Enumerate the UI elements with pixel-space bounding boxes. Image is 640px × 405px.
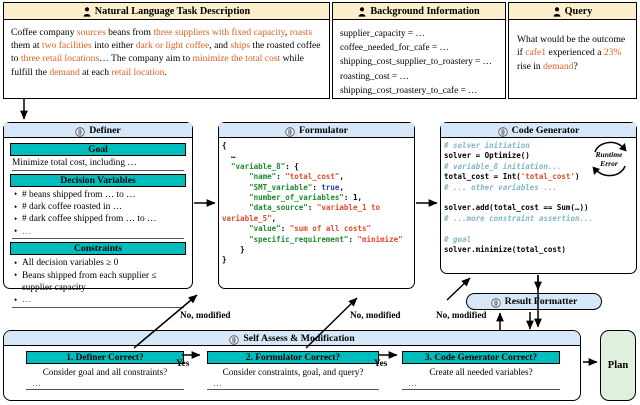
list-item: … [14,226,188,238]
list-item: supplier_capacity = … [340,27,505,41]
code-token: : 1, [344,193,362,202]
query-header: Query [509,3,636,20]
code-token: : [308,203,317,212]
self-assess-step-3-dots: … [402,378,560,388]
definer-decision-variables-list: # beans shipped from … to …# dark coffee… [4,188,192,239]
self-assess-step-2-question: Consider constraints, goal, and query? [207,364,379,378]
code-generator-header: Code Generator [441,123,636,138]
definer-goal-text: Minimize total cost, including … [4,157,192,170]
code-token: "SMT_variable" [249,183,312,192]
definer-constraints-list: All decision variables ≥ 0Beans shipped … [4,256,192,307]
code-token: … [231,151,236,160]
edge-label-yes-2: Yes [374,358,387,368]
list-item: shipping_cost_supplier_to_roastery = … [340,55,505,69]
code-token: : [312,183,321,192]
background-information-header: Background Information [333,3,505,20]
code-token: { [222,141,227,150]
code-token: "value" [249,224,281,233]
natural-language-task-panel: Natural Language Task Description Coffee… [3,2,330,99]
code-token: total_cost = Int( [444,172,521,181]
edge-label-no-modified-2: No, modified [350,310,401,320]
result-formatter-title: Result Formatter [505,296,578,307]
code-token [222,162,231,171]
natural-language-task-title: Natural Language Task Description [95,6,250,17]
code-token: # variable_8 initiation... [444,162,561,171]
definer-decision-variables-header: Decision Variables [10,174,186,187]
code-generator-title: Code Generator [512,125,580,136]
self-assess-step-2-dots: … [207,378,379,388]
definer-goal-header: Goal [10,143,186,156]
formulator-title: Formulator [299,125,348,136]
plan-node: Plan [600,330,636,401]
runtime-label-line2: Error [585,159,633,168]
code-token [222,235,249,244]
code-token: "variable_8" [231,162,285,171]
self-assess-header: Self Assess & Modification [4,331,580,346]
brain-icon [75,127,85,137]
person-icon [553,7,561,17]
natural-language-task-text: Coffee company sources beans from three … [4,20,329,79]
code-token: : { [285,162,299,171]
self-assess-step-2-rule [207,389,379,390]
self-assess-step-1-question: Consider goal and all constraints? [26,364,184,378]
self-assess-step-1-rule [26,389,184,390]
list-item: All decision variables ≥ 0 [14,257,188,269]
self-assess-step-1-header: 1. Definer Correct? [26,351,184,364]
code-token: "number_of_variables" [249,193,344,202]
definer-panel: Definer Goal Minimize total cost, includ… [3,122,193,289]
definer-constraints-header: Constraints [10,242,186,255]
code-token: solver.add(total_cost == Sum(…)) [444,203,589,212]
code-token: "specific_requirement" [249,235,348,244]
result-formatter-node: Result Formatter [466,293,602,310]
self-assess-step-2-header: 2. Formulator Correct? [207,351,379,364]
diagram-root: Natural Language Task Description Coffee… [0,0,640,405]
brain-icon [491,298,501,308]
definer-goal-rule [12,170,184,171]
code-token: # goal [444,235,471,244]
code-token: "name" [249,172,276,181]
self-assess-step-1-dots: … [26,378,184,388]
list-item: Beans shipped from each supplier ≤ suppl… [14,270,188,295]
brain-icon [285,127,295,137]
background-information-panel: Background Information supplier_capacity… [332,2,506,99]
self-assess-step-3-rule [402,389,560,390]
list-item: shipping_cost_roastery_to_cafe = … [340,84,505,98]
formulator-header: Formulator [219,123,414,138]
list-item: … [14,294,188,306]
natural-language-task-header: Natural Language Task Description [4,3,329,20]
list-item: # dark coffee shipped from … to … [14,213,188,225]
brain-icon [229,335,239,345]
runtime-error-loop: Runtime Error [585,138,633,180]
code-token: "minimize" [357,235,402,244]
self-assess-step-3-question: Create all needed variables? [402,364,560,378]
code-generator-panel: Code Generator # solver initiation solve… [440,122,637,274]
self-assess-step-1: 1. Definer Correct? Consider goal and al… [26,351,184,390]
code-token: # solver initiation [444,141,530,150]
code-token: # ... other variables ... [444,183,557,192]
edge-label-no-modified-1: No, modified [180,310,231,320]
code-token: : [281,224,290,233]
definer-header: Definer [4,123,192,138]
background-information-title: Background Information [370,6,479,17]
code-token: ) [575,172,580,181]
self-assess-title: Self Assess & Modification [243,333,354,344]
self-assess-step-3-header: 3. Code Generator Correct? [402,351,560,364]
list-item: coffee_needed_for_cafe = … [340,41,505,55]
list-item: roasting_cost = … [340,70,505,84]
query-panel: Query What would be the outcome if cafe1… [508,2,637,99]
edge-label-yes-1: Yes [176,358,189,368]
query-title: Query [565,6,593,17]
self-assess-panel: Self Assess & Modification 1. Definer Co… [3,330,581,401]
code-token: solver = Optimize() [444,151,530,160]
code-token [222,203,249,212]
code-token: : [276,172,285,181]
formulator-json-code: { … "variable_8": { "name": "total_cost"… [219,138,414,266]
self-assess-step-3: 3. Code Generator Correct? Create all ne… [402,351,560,390]
list-item: # dark coffee roasted in … [14,201,188,213]
code-token: "data_source" [249,203,308,212]
definer-title: Definer [89,125,121,136]
definer-decision-variables-rule [12,238,184,239]
edge-label-no-modified-3: No, modified [436,310,487,320]
code-token [222,172,249,181]
background-information-list: supplier_capacity = …coffee_needed_for_c… [333,20,505,98]
code-token: true [321,183,339,192]
brain-icon [498,127,508,137]
runtime-label-line1: Runtime [585,150,633,159]
code-token: } } [222,245,245,264]
code-token: "sum of all costs" [290,224,371,233]
code-token: "total_cost" [285,172,339,181]
query-text: What would be the outcome if cafe1 exper… [509,20,636,73]
plan-label: Plan [608,360,628,371]
list-item: # beans shipped from … to … [14,189,188,201]
person-icon [358,7,366,17]
code-token: # ...more constraint assertion... [444,214,593,223]
definer-constraints-rule [12,307,184,308]
code-token: 'total_cost' [521,172,575,181]
formulator-panel: Formulator { … "variable_8": { "name": "… [218,122,415,289]
person-icon [83,7,91,17]
self-assess-step-2: 2. Formulator Correct? Consider constrai… [207,351,379,390]
code-token [222,151,231,160]
code-token: solver.minimize(total_cost) [444,245,566,254]
